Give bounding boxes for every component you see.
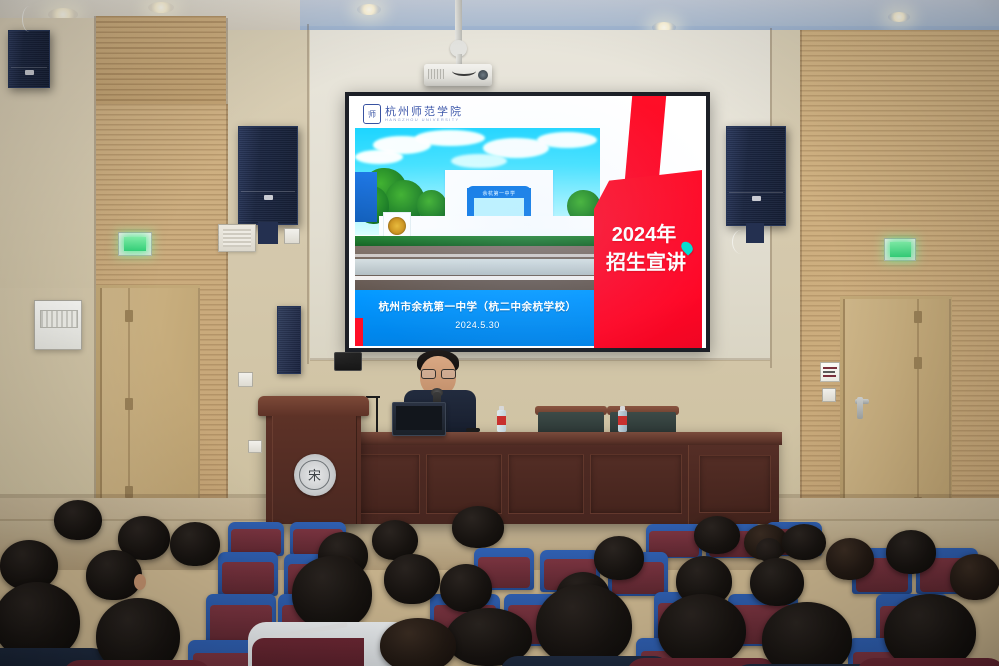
seat-cushion	[222, 562, 275, 595]
audience-shoulders	[62, 660, 212, 666]
door-hinge	[125, 310, 133, 322]
audience-head-front	[380, 618, 456, 666]
audience-head	[950, 554, 999, 600]
microphone-stand	[376, 396, 378, 432]
wall-trim-horizontal	[310, 358, 770, 361]
slide-campus-photo: 余杭第一中学	[355, 128, 600, 290]
audience-head	[384, 554, 440, 604]
electrical-panel	[34, 300, 82, 350]
school-logo-subtext: HANGZHOU UNIVERSITY	[385, 117, 460, 122]
photo-road-marking	[355, 276, 600, 280]
wall-speaker	[238, 126, 298, 225]
audience-head	[594, 536, 644, 580]
water-bottle	[618, 404, 627, 432]
speaker-cable	[732, 230, 751, 254]
wall-seam	[307, 24, 309, 364]
slide-caption-bar: 杭州市余杭第一中学（杭二中余杭学校） 2024.5.30	[355, 290, 600, 346]
ceiling-downlight	[148, 2, 174, 13]
photo-side-building	[355, 172, 377, 222]
wall-placard	[820, 362, 840, 382]
bottle-label	[497, 416, 506, 425]
placard-line	[823, 371, 835, 373]
slide-accent-bar	[355, 318, 363, 346]
bottle-label	[618, 416, 627, 425]
projector-mount-pole	[455, 0, 462, 44]
exit-sign-left	[118, 232, 152, 256]
wall-speaker	[8, 30, 50, 88]
audience-head	[826, 538, 874, 580]
audience-head	[750, 558, 804, 606]
glasses-icon	[421, 369, 436, 379]
audience-head	[452, 506, 504, 548]
auditorium-seat[interactable]	[218, 552, 278, 596]
projector-lens	[478, 70, 488, 80]
photo-road-marking	[355, 254, 600, 257]
ceiling-projector	[424, 64, 492, 86]
ceiling-downlight	[888, 12, 910, 22]
placard-line	[823, 375, 836, 377]
audience-head-front	[292, 556, 372, 630]
audience-head	[86, 550, 142, 600]
podium-school-emblem: 宋	[294, 454, 336, 496]
glasses-icon	[441, 369, 456, 379]
wall-control-panel[interactable]	[334, 352, 362, 371]
speaker-bracket	[258, 222, 278, 244]
photo-hedge	[355, 236, 600, 246]
photo-gate-sign: 余杭第一中学	[467, 188, 531, 198]
audience-head	[694, 516, 740, 554]
wall-speaker	[726, 126, 786, 226]
slide-caption-date: 2024.5.30	[355, 320, 600, 330]
speaker-cable	[22, 6, 37, 32]
school-logo-glyph: 师	[368, 109, 376, 120]
water-bottle	[497, 404, 506, 432]
photo-campus-wall	[379, 216, 599, 238]
audience-head	[440, 564, 492, 612]
projection-screen-frame: 师 杭州师范学院 HANGZHOU UNIVERSITY	[345, 92, 710, 352]
table-small-object	[466, 428, 480, 432]
audience-head-front	[96, 598, 180, 666]
audience-head	[170, 522, 220, 566]
microphone-stand-arm	[366, 396, 380, 398]
audience-area	[0, 498, 999, 666]
photo-emblem-circle	[388, 217, 407, 236]
audience-shoulders	[856, 658, 999, 666]
wall-outlet	[238, 372, 253, 387]
auditorium-photo: 师 杭州师范学院 HANGZHOU UNIVERSITY	[0, 0, 999, 666]
column-speaker	[277, 306, 301, 374]
door-hinge	[914, 357, 922, 369]
slide-headline-subject: 招生宣讲	[596, 246, 696, 275]
audience-head-front	[884, 594, 976, 666]
wall-outlet	[284, 228, 300, 244]
podium-top	[258, 396, 369, 416]
door-lock-plate	[857, 397, 863, 419]
door-hinge	[914, 311, 922, 323]
photo-cloud	[451, 154, 507, 168]
photo-cloud	[537, 132, 597, 148]
audience-shoulders	[252, 638, 364, 666]
wall-outlet	[248, 440, 262, 453]
audience-head-front	[762, 602, 852, 666]
exit-sign-right	[884, 238, 916, 261]
slide-caption-title: 杭州市余杭第一中学（杭二中余杭学校）	[355, 299, 600, 314]
audience-head-front	[536, 584, 632, 666]
audience-head	[54, 500, 102, 540]
audience-head	[886, 530, 936, 574]
slide-headline-year: 2024年	[596, 218, 692, 247]
ceiling-downlight	[357, 4, 381, 15]
auditorium-seat[interactable]	[228, 522, 284, 556]
photo-gate-text: 余杭第一中学	[467, 190, 531, 197]
vent-slats	[223, 229, 251, 247]
projector-cable	[452, 66, 476, 76]
laptop-screen	[396, 406, 442, 430]
photo-pavement	[355, 259, 600, 275]
school-logo-icon: 师	[363, 104, 381, 124]
seat-cushion	[231, 529, 280, 554]
wall-seam	[226, 18, 228, 528]
audience-head-front	[658, 594, 746, 666]
podium-emblem-glyph: 宋	[299, 460, 330, 491]
laptop[interactable]	[392, 402, 446, 436]
audience-head	[782, 524, 826, 560]
exit-sign-glow	[124, 237, 146, 252]
projector-vent	[428, 69, 444, 79]
audience-ear	[134, 574, 146, 590]
light-switch[interactable]	[822, 388, 836, 402]
projection-screen: 师 杭州师范学院 HANGZHOU UNIVERSITY	[349, 96, 706, 348]
placard-line	[823, 367, 837, 369]
exit-sign-glow	[890, 242, 911, 256]
wall-seam	[800, 30, 802, 530]
photo-cloud	[355, 150, 403, 164]
photo-cloud	[415, 130, 485, 146]
air-vent	[218, 224, 256, 252]
wood-slat-panel	[96, 16, 226, 108]
door-hinge	[125, 398, 133, 410]
